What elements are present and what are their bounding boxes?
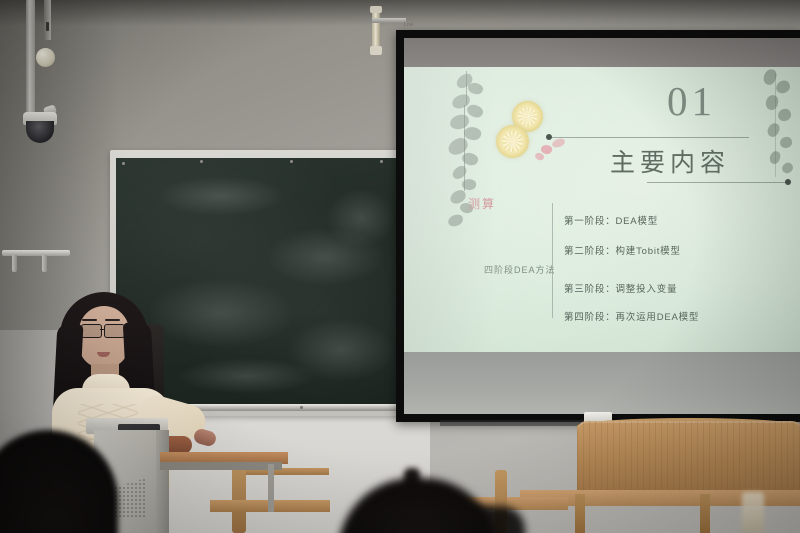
slide-stage-3: 第三阶段：调整投入变量	[564, 281, 677, 295]
pink-petal	[551, 138, 566, 149]
projection-screen: 01 主要内容 测算 四阶段DEA方法 第一阶段：DEA模型 第二阶段：构建To…	[404, 38, 800, 414]
slide-title: 主要内容	[610, 143, 730, 179]
dried-lemon-slice	[496, 125, 529, 158]
screen-mount-cap	[370, 6, 382, 13]
chair-post	[575, 494, 585, 533]
screen-mount-cap	[370, 46, 382, 55]
eyeglasses-icon	[104, 324, 125, 338]
classroom-scene: Lne	[0, 0, 800, 533]
projection-letterbox-bottom	[404, 352, 800, 414]
mount-label: Lne	[404, 22, 414, 28]
eyeglasses-icon	[81, 324, 102, 338]
slide-section-number: 01	[667, 77, 716, 125]
slide-rule-dot	[546, 134, 552, 140]
pole-bracket	[44, 0, 51, 40]
slide-rule-top	[551, 137, 749, 138]
chair-post	[700, 494, 710, 533]
wooden-chair-back	[577, 421, 800, 493]
slide-stage-4: 第四阶段：再次运用DEA模型	[564, 309, 699, 323]
foreground-light	[742, 492, 764, 533]
presenter-hand	[192, 427, 217, 447]
desk-edge	[440, 420, 590, 426]
pole-hole	[46, 22, 49, 31]
ceiling-mount-pole	[26, 0, 35, 122]
screen-mount-bracket	[372, 18, 406, 23]
desk-leg	[268, 464, 274, 512]
slide-pink-label: 测算	[468, 195, 496, 212]
slide-divider	[552, 203, 553, 318]
chair-post	[232, 464, 246, 533]
ceiling-knob	[36, 48, 55, 67]
slide-rule-dot	[785, 179, 791, 185]
projection-letterbox-top	[404, 38, 800, 67]
slide-rule-bottom	[647, 182, 787, 183]
presentation-slide: 01 主要内容 测算 四阶段DEA方法 第一阶段：DEA模型 第二阶段：构建To…	[404, 67, 800, 352]
rail-bracket	[12, 255, 17, 272]
desk-side	[160, 462, 282, 470]
rail-bracket	[42, 255, 47, 272]
slide-stage-2: 第二阶段：构建Tobit模型	[564, 243, 681, 257]
eyeglasses-bridge	[100, 329, 105, 330]
lectern-edge	[156, 430, 169, 533]
slide-method-label: 四阶段DEA方法	[484, 263, 556, 276]
slide-stage-1: 第一阶段：DEA模型	[564, 213, 658, 227]
